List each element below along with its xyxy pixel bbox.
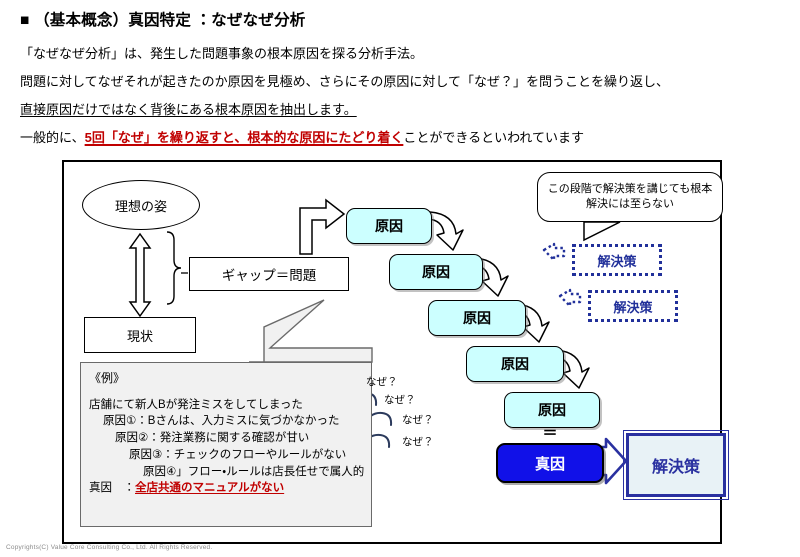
current-state-node: 現状 — [84, 317, 196, 353]
gap-problem-node: ギャップ＝問題 — [189, 257, 349, 291]
example-line-0: 店舗にて新人Bが発注ミスをしてしまった — [89, 397, 363, 414]
example-heading: 《例》 — [89, 370, 363, 388]
example-callout-tail — [249, 300, 372, 362]
example-line-4: 原因④」フロー・ルールは店長任せで属人的 — [89, 464, 363, 481]
intro-line-3: 直接原因だけではなく背後にある根本原因を抽出します。 — [20, 99, 357, 118]
cause-node-4: 原因 — [466, 346, 564, 382]
gap-double-arrow — [130, 234, 150, 316]
why-label-2: なぜ？ — [384, 392, 416, 407]
example-line-2: 原因②：発注業務に関する確認が甘い — [89, 430, 363, 447]
why-label-4: なぜ？ — [402, 434, 434, 449]
intro-line-2: 問題に対してなぜそれが起きたのか原因を見極め、さらにその原因に対して「なぜ？」を… — [20, 71, 669, 90]
page-title: ■ （基本概念）真因特定 ：なぜなぜ分析 — [20, 8, 305, 30]
intro-line-3-underlined: 直接原因だけではなく背後にある根本原因を抽出します。 — [20, 102, 357, 117]
final-solution-node: 解決策 — [626, 433, 726, 497]
cause-node-1: 原因 — [346, 208, 432, 244]
example-conclusion-value: 全店共通のマニュアルがない — [135, 482, 284, 494]
ideal-state-node: 理想の姿 — [82, 180, 200, 230]
equals-sign: ＝ — [535, 426, 565, 441]
tentative-solution-2: 解決策 — [588, 290, 678, 322]
gap-brace — [167, 232, 181, 304]
intro-line-4-suffix: ことができるといわれています — [403, 130, 584, 145]
intro-line-4-prefix: 一般的に、 — [20, 130, 85, 145]
example-conclusion-label: 真因 ： — [89, 482, 135, 494]
callout-note: この段階で解決策を講じても根本解決には至らない — [537, 172, 723, 222]
example-panel: 《例》 店舗にて新人Bが発注ミスをしてしまった 原因①：Bさんは、入力ミスに気づ… — [80, 362, 372, 527]
why-label-1: なぜ？ — [366, 374, 398, 389]
cause-node-3: 原因 — [428, 300, 526, 336]
intro-line-1: 「なぜなぜ分析」は、発生した問題事象の根本原因を探る分析手法。 — [20, 43, 423, 62]
why-label-3: なぜ？ — [402, 412, 434, 427]
gap-to-cause-hook-arrow — [300, 200, 344, 254]
tentative-solution-1: 解決策 — [572, 244, 662, 276]
example-line-1: 原因①：Bさんは、入力ミスに気づかなかった — [89, 413, 363, 430]
why-why-analysis-diagram: 理想の姿 現状 ギャップ＝問題 原因 原因 原因 原因 原因 ＝ 真因 解決策 … — [62, 160, 722, 544]
cause-node-2: 原因 — [389, 254, 483, 290]
callout-tail — [584, 222, 620, 240]
copyright-footer: Copyrights(C) Value Core Consulting Co.,… — [6, 544, 212, 551]
intro-line-4: 一般的に、5回「なぜ」を繰り返すと、根本的な原因にたどり着くことができるといわれ… — [20, 127, 584, 146]
true-cause-node: 真因 — [496, 443, 604, 483]
example-line-3: 原因③：チェックのフローやルールがない — [89, 447, 363, 464]
intro-line-4-emphasis: 5回「なぜ」を繰り返すと、根本的な原因にたどり着く — [85, 130, 404, 145]
cause-node-5: 原因 — [504, 392, 600, 428]
example-conclusion: 真因 ：全店共通のマニュアルがない — [89, 480, 363, 497]
